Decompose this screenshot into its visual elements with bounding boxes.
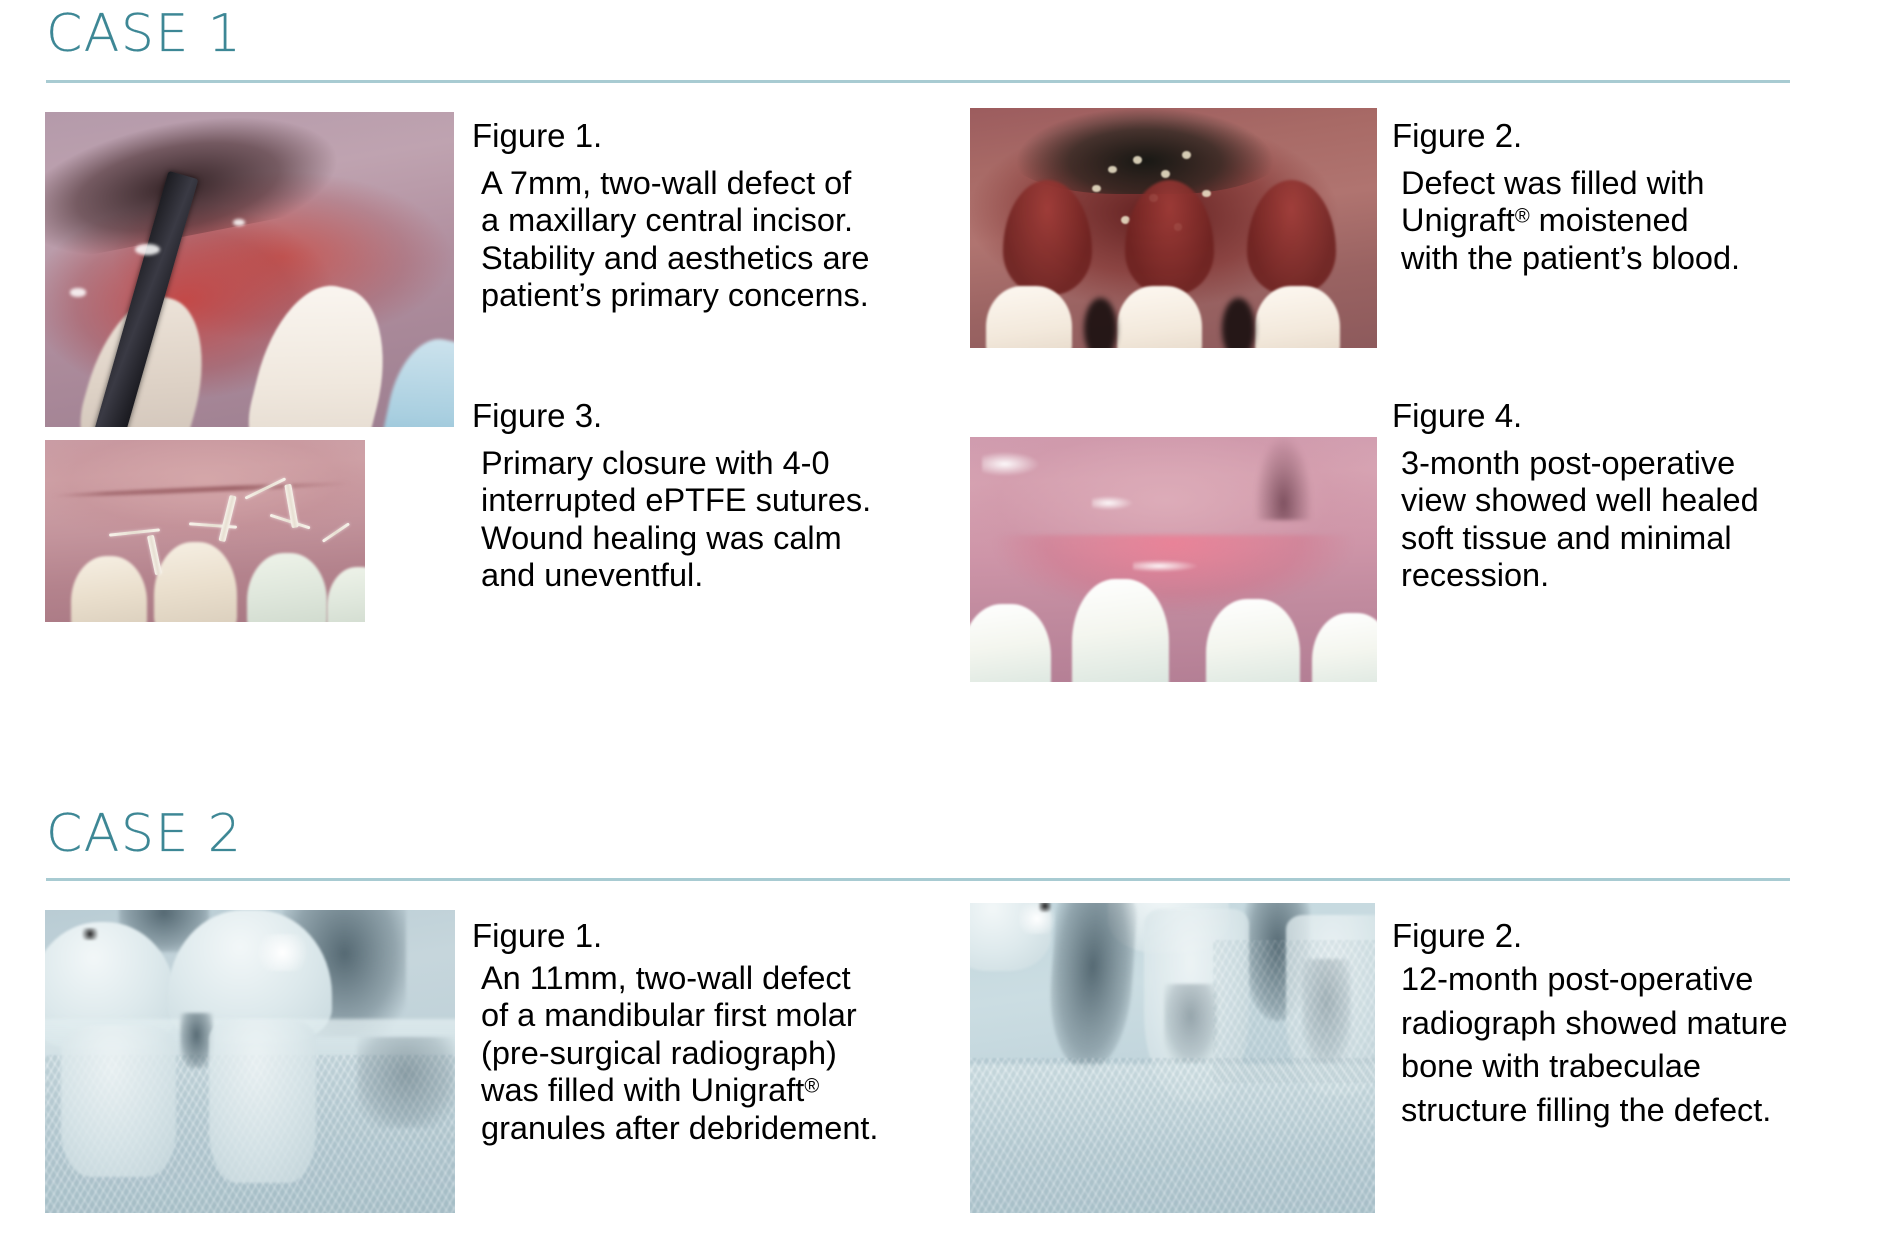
case-1-divider — [46, 80, 1790, 83]
case1-figure-2-caption: Figure 2. Defect was filled with Unigraf… — [1392, 118, 1862, 277]
case2-figure-2-text: 12-month post-operative radiograph showe… — [1392, 958, 1862, 1134]
case1-figure-3-text: Primary closure with 4-0 interrupted ePT… — [472, 445, 942, 595]
case1-figure-3-label: Figure 3. — [472, 398, 942, 434]
case2-figure-1-text: An 11mm, two-wall defect of a mandibular… — [472, 960, 942, 1148]
case1-figure-1-text: A 7mm, two-wall defect of a maxillary ce… — [472, 165, 942, 315]
registered-trademark-icon: ® — [1515, 206, 1530, 228]
case2-figure-2-label: Figure 2. — [1392, 918, 1862, 954]
case2-figure-1-image — [45, 910, 455, 1213]
document-page: CASE 1 Figure 1. A 7mm, two-wa — [0, 0, 1880, 1244]
case1-figure-4-caption: Figure 4. 3-month post-operative view sh… — [1392, 398, 1862, 595]
case2-figure-1-caption: Figure 1. An 11mm, two-wall defect of a … — [472, 918, 942, 1147]
case1-figure-1-image — [45, 112, 454, 427]
case1-figure-2-label: Figure 2. — [1392, 118, 1862, 154]
case2-figure-1-text-before: An 11mm, two-wall defect of a mandibular… — [481, 960, 857, 1109]
case2-figure-1-label: Figure 1. — [472, 918, 942, 954]
case1-figure-4-image — [970, 437, 1377, 682]
case2-figure-2-image — [970, 903, 1375, 1213]
case1-figure-2-image — [970, 108, 1377, 348]
case1-figure-1-label: Figure 1. — [472, 118, 942, 154]
registered-trademark-icon: ® — [804, 1076, 819, 1098]
case-2-title: CASE 2 — [46, 808, 242, 860]
case-2-divider — [46, 878, 1790, 881]
case-1-title: CASE 1 — [46, 8, 242, 60]
case1-figure-2-text: Defect was filled with Unigraft® moisten… — [1392, 165, 1862, 278]
case1-figure-3-caption: Figure 3. Primary closure with 4-0 inter… — [472, 398, 942, 595]
case1-figure-4-text: 3-month post-operative view showed well … — [1392, 445, 1862, 595]
case2-figure-1-text-after: granules after debridement. — [481, 1110, 878, 1146]
case1-figure-4-label: Figure 4. — [1392, 398, 1862, 434]
case2-figure-2-caption: Figure 2. 12-month post-operative radiog… — [1392, 918, 1862, 1133]
case1-figure-3-image — [45, 440, 365, 622]
case1-figure-1-caption: Figure 1. A 7mm, two-wall defect of a ma… — [472, 118, 942, 315]
